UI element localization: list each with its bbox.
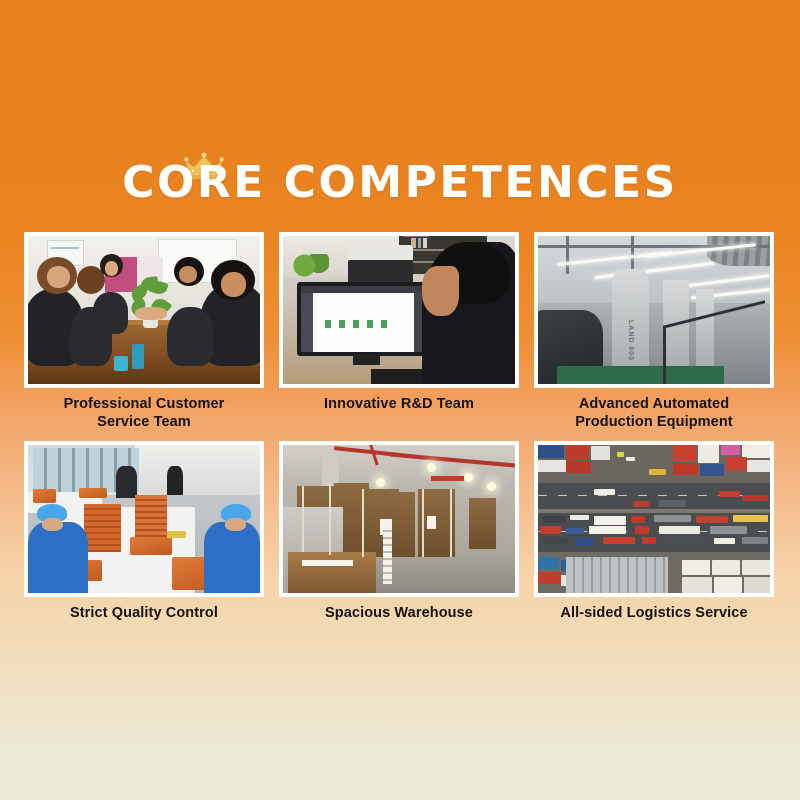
card-caption: All-sided Logistics Service (534, 604, 774, 622)
photo-rd-designer-at-monitor (283, 236, 515, 384)
card-advanced-automated-production-equipment[interactable]: LAND 800 Advanced Automated Production E… (534, 232, 774, 431)
card-caption-line-1: Innovative R&D Team (279, 395, 519, 413)
card-all-sided-logistics-service[interactable]: All-sided Logistics Service (534, 441, 774, 622)
card-professional-customer-service-team[interactable]: Professional Customer Service Team (24, 232, 264, 431)
card-caption: Strict Quality Control (24, 604, 264, 622)
card-strict-quality-control[interactable]: Strict Quality Control (24, 441, 264, 622)
page-title-block: CORE COMPETENCES (0, 160, 800, 206)
card-caption-line-1: Professional Customer (24, 395, 264, 413)
photo-printing-press-line: LAND 800 (538, 236, 770, 384)
card-thumbnail[interactable]: LAND 800 (534, 232, 774, 388)
competence-grid: Professional Customer Service Team (24, 232, 776, 622)
card-caption: Innovative R&D Team (279, 395, 519, 413)
card-caption: Professional Customer Service Team (24, 395, 264, 431)
photo-quality-control-inspection (28, 445, 260, 593)
card-caption-line-1: Strict Quality Control (24, 604, 264, 622)
card-caption-line-2: Production Equipment (534, 413, 774, 431)
photo-office-meeting-room (28, 236, 260, 384)
worker-left (28, 522, 88, 593)
card-caption-line-2: Service Team (24, 413, 264, 431)
page-background: CORE COMPETENCES (0, 0, 800, 800)
card-caption-line-1: Spacious Warehouse (279, 604, 519, 622)
card-thumbnail[interactable] (279, 441, 519, 597)
page-title: CORE COMPETENCES (122, 160, 678, 206)
card-innovative-rd-team[interactable]: Innovative R&D Team (279, 232, 519, 431)
card-spacious-warehouse[interactable]: Spacious Warehouse (279, 441, 519, 622)
card-thumbnail[interactable] (534, 441, 774, 597)
card-caption-line-1: All-sided Logistics Service (534, 604, 774, 622)
competence-row-1: Professional Customer Service Team (24, 232, 776, 431)
card-caption: Spacious Warehouse (279, 604, 519, 622)
photo-aerial-logistics-containers (538, 445, 770, 593)
competence-row-2: Strict Quality Control (24, 441, 776, 622)
photo-warehouse-pallets (283, 445, 515, 593)
card-thumbnail[interactable] (279, 232, 519, 388)
card-caption-line-1: Advanced Automated (534, 395, 774, 413)
card-thumbnail[interactable] (24, 441, 264, 597)
card-thumbnail[interactable] (24, 232, 264, 388)
card-caption: Advanced Automated Production Equipment (534, 395, 774, 431)
